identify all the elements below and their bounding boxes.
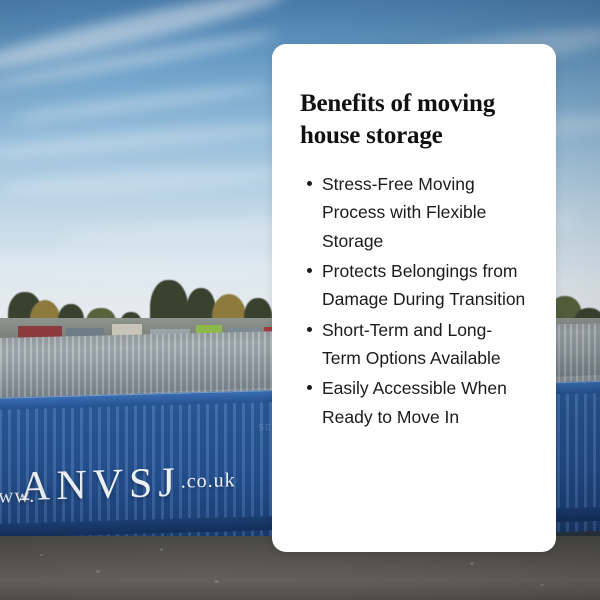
image-canvas: SELF STORAGE www. ANVSJ.co.uk Benefits o… [0, 0, 600, 600]
benefits-card: Benefits of moving house storage Stress-… [272, 44, 556, 552]
gravel-speck [160, 548, 163, 551]
gravel-speck [96, 570, 100, 573]
benefits-list: Stress-Free Moving Process with Flexible… [300, 170, 530, 431]
card-title: Benefits of moving house storage [300, 88, 530, 152]
list-item: Short-Term and Long-Term Options Availab… [322, 316, 530, 373]
brand-domain-suffix: .co.uk [181, 469, 236, 493]
list-item: Stress-Free Moving Process with Flexible… [322, 170, 530, 255]
list-item: Easily Accessible When Ready to Move In [322, 374, 530, 431]
container-brand-text: ANVSJ.co.uk [20, 457, 236, 511]
gravel-speck [470, 562, 474, 565]
gravel-speck [214, 580, 219, 583]
gravel-speck [540, 584, 544, 586]
brand-name: ANVSJ [20, 460, 181, 510]
list-item: Protects Belongings from Damage During T… [322, 257, 530, 314]
gravel-speck [40, 554, 43, 556]
